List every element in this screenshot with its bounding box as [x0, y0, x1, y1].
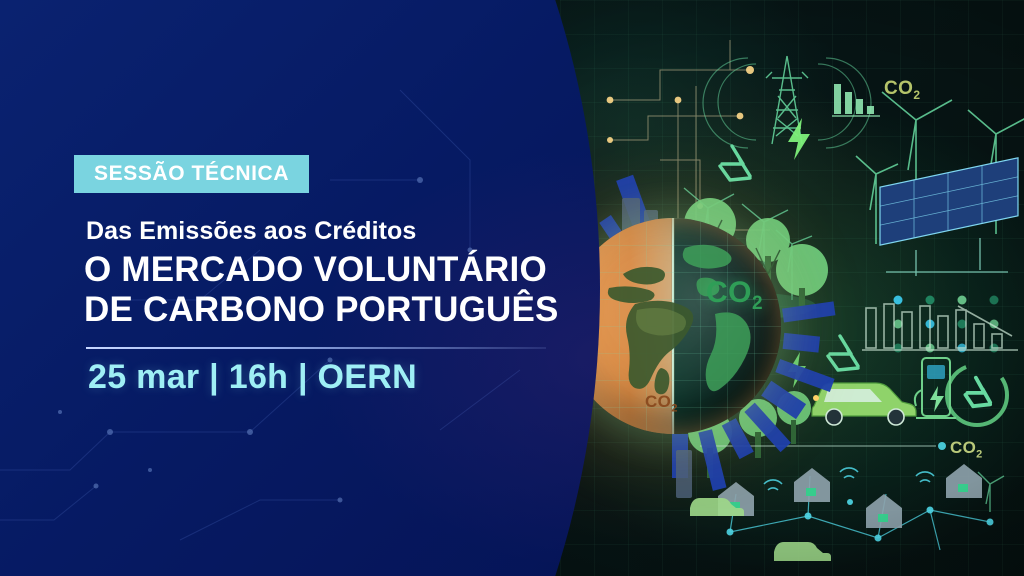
title-line-2: DE CARBONO PORTUGUÊS: [84, 290, 559, 330]
event-subtitle: Das Emissões aos Créditos: [86, 217, 416, 246]
session-type-badge: SESSÃO TÉCNICA: [74, 155, 309, 193]
event-dateline: 25 mar | 16h | OERN: [88, 358, 417, 397]
title-divider: [86, 347, 546, 349]
co2-label-globe-left: CO2: [645, 392, 678, 414]
badge-label: SESSÃO TÉCNICA: [94, 162, 289, 186]
event-banner: CO2: [0, 0, 1024, 576]
title-line-1: O MERCADO VOLUNTÁRIO: [84, 250, 559, 290]
page-title: O MERCADO VOLUNTÁRIO DE CARBONO PORTUGUÊ…: [84, 250, 559, 329]
co2-label-globe-right: CO2: [706, 276, 763, 315]
